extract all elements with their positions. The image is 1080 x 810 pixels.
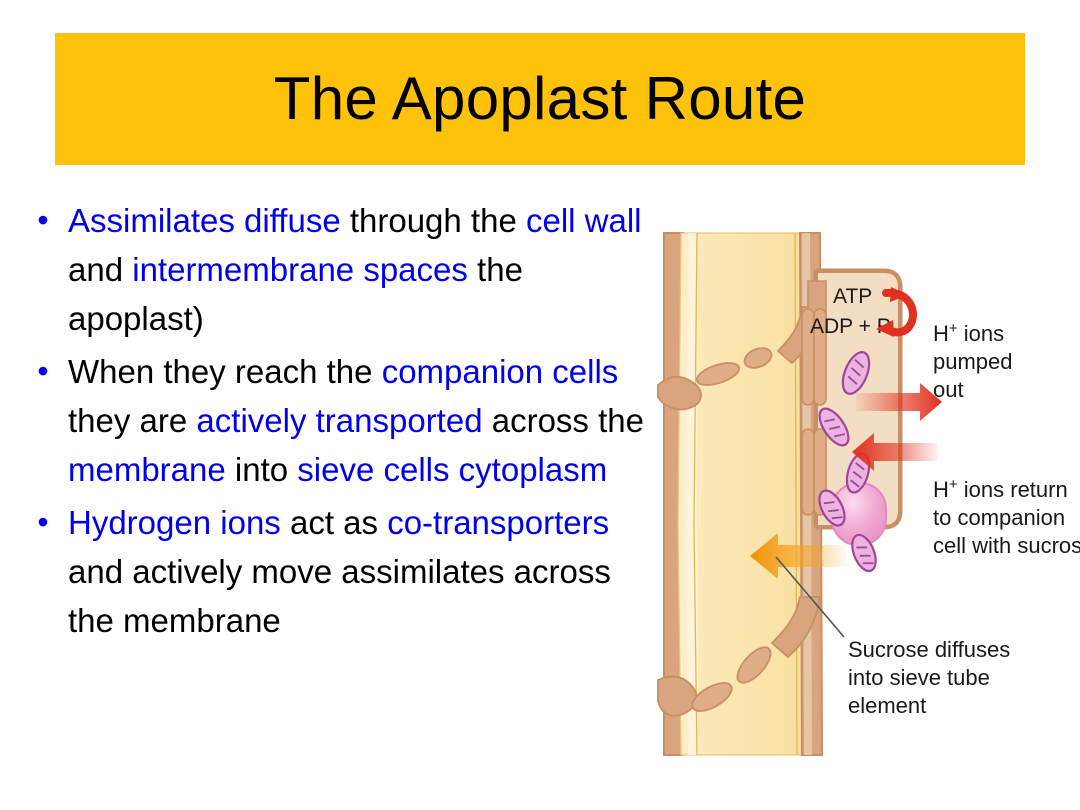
- phloem-loading-diagram: ATP ADP + P H+ ions pumped out H+ ions r…: [650, 225, 1080, 765]
- bullet-marker-icon: •: [18, 498, 68, 645]
- adp-label: ADP + P: [810, 315, 891, 338]
- h-ions-pumped-out-label: H+ ions pumped out: [933, 320, 1013, 402]
- bullet-1-seg-4: intermembrane spaces: [132, 251, 468, 288]
- sucrose-diffusion-label: Sucrose diffuses into sieve tube element: [848, 637, 1010, 718]
- bullet-2-seg-2: they are: [68, 402, 196, 439]
- bullet-1-seg-1: through the: [341, 202, 526, 239]
- label-line: to companion: [933, 505, 1065, 530]
- bullet-1-seg-3: and: [68, 251, 132, 288]
- label-line: element: [848, 693, 926, 718]
- bullet-2-seg-4: across the: [483, 402, 644, 439]
- h-ions-return-label: H+ ions return to companion cell with su…: [933, 476, 1080, 558]
- label-line: out: [933, 377, 964, 402]
- bullet-2-seg-6: into: [226, 451, 298, 488]
- label-line: pumped: [933, 349, 1013, 374]
- list-item-text: Hydrogen ions act as co-transporters and…: [68, 498, 650, 645]
- list-item: • Hydrogen ions act as co-transporters a…: [18, 498, 650, 645]
- bullet-2-seg-5: membrane: [68, 451, 226, 488]
- label-line: Sucrose diffuses: [848, 637, 1010, 662]
- bullet-1-seg-0: Assimilates diffuse: [68, 202, 341, 239]
- list-item: • When they reach the companion cells th…: [18, 347, 650, 494]
- label-line: into sieve tube: [848, 665, 990, 690]
- bullet-2-seg-7: sieve cells cytoplasm: [297, 451, 607, 488]
- bullet-3-seg-3: and actively move assimilates across the…: [68, 553, 611, 639]
- bullet-2-seg-3: actively transported: [196, 402, 482, 439]
- bullet-2-seg-0: When they reach the: [68, 353, 382, 390]
- page-title: The Apoplast Route: [274, 69, 806, 129]
- bullet-marker-icon: •: [18, 347, 68, 494]
- label-line: cell with sucrose: [933, 533, 1080, 558]
- list-item: • Assimilates diffuse through the cell w…: [18, 196, 650, 343]
- bullet-3-seg-2: co-transporters: [387, 504, 609, 541]
- list-item-text: Assimilates diffuse through the cell wal…: [68, 196, 650, 343]
- bullet-marker-icon: •: [18, 196, 68, 343]
- plasmodesma-channel: [802, 429, 814, 515]
- slide-title-banner: The Apoplast Route: [55, 33, 1025, 165]
- bullet-3-seg-0: Hydrogen ions: [68, 504, 281, 541]
- bullet-2-seg-1: companion cells: [382, 353, 619, 390]
- label-line: H+ ions return: [933, 476, 1068, 502]
- atp-label: ATP: [833, 285, 872, 308]
- label-line: H+ ions: [933, 320, 1004, 346]
- bullet-1-seg-2: cell wall: [526, 202, 642, 239]
- list-item-text: When they reach the companion cells they…: [68, 347, 650, 494]
- bullet-list: • Assimilates diffuse through the cell w…: [18, 196, 650, 649]
- bullet-3-seg-1: act as: [281, 504, 387, 541]
